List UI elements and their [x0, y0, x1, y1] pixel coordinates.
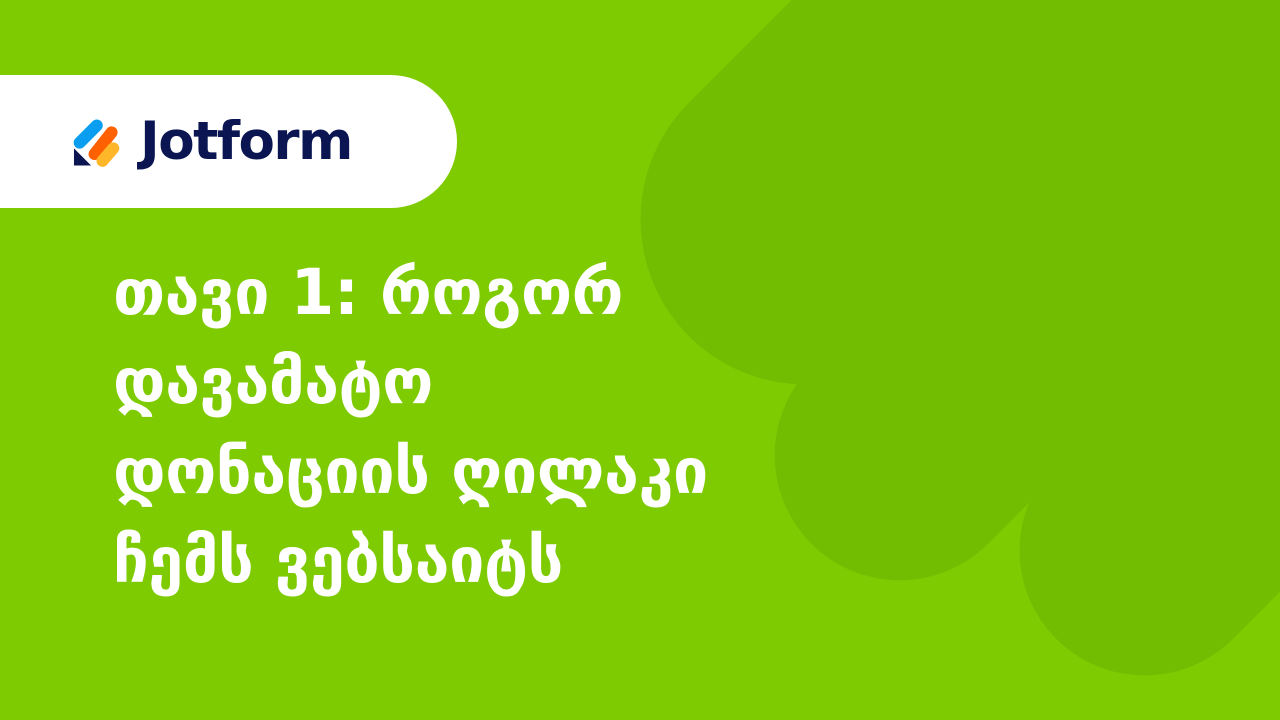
logo-panel: Jotform — [0, 75, 457, 208]
jotform-wordmark: Jotform — [140, 115, 352, 168]
decor-capsule-bottom — [968, 183, 1280, 720]
jotform-logo: Jotform — [66, 113, 352, 170]
jotform-logo-mark-icon — [66, 113, 123, 170]
headline-line-1: თავი 1: როგორ — [113, 248, 933, 337]
title-slide: Jotform თავი 1: როგორ დავამატო დონაციის … — [0, 0, 1280, 720]
headline-line-2: დავამატო — [113, 337, 933, 426]
headline-line-4: ჩემს ვებსაიტს — [113, 516, 933, 605]
headline-line-3: დონაციის ღილაკი — [113, 427, 933, 516]
headline: თავი 1: როგორ დავამატო დონაციის ღილაკი ჩ… — [113, 248, 933, 606]
